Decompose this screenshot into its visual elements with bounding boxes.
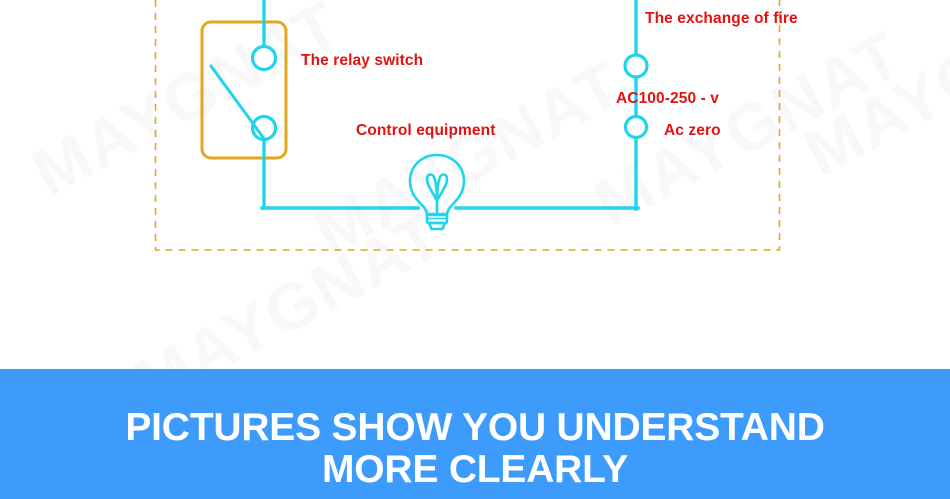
page-root: MAYGNAT MAYGNAT MAYGNAT MAYGNAT MAYGNAT xyxy=(0,0,950,499)
label-ac-voltage-range: AC100-250 - v xyxy=(616,91,719,107)
label-ac-zero: Ac zero xyxy=(664,123,721,139)
relay-terminal-upper-icon xyxy=(253,47,276,70)
promo-banner: PICTURES SHOW YOU UNDERSTAND MORE CLEARL… xyxy=(0,369,950,499)
label-exchange-of-fire: The exchange of fire xyxy=(645,11,798,27)
diagram-canvas xyxy=(0,0,950,369)
label-control-equipment: Control equipment xyxy=(356,123,495,139)
relay-contact-arm-icon xyxy=(211,66,265,140)
wire-group xyxy=(262,0,638,209)
label-relay-switch: The relay switch xyxy=(301,53,423,69)
relay-enclosure xyxy=(202,22,286,158)
ac-live-terminal-icon xyxy=(625,55,647,77)
ac-neutral-terminal-icon xyxy=(626,117,647,138)
banner-line-2: MORE CLEARLY xyxy=(322,449,628,491)
light-bulb-icon xyxy=(410,155,464,229)
wiring-diagram: MAYGNAT MAYGNAT MAYGNAT MAYGNAT MAYGNAT xyxy=(0,0,950,369)
banner-line-1: PICTURES SHOW YOU UNDERSTAND xyxy=(125,407,824,449)
